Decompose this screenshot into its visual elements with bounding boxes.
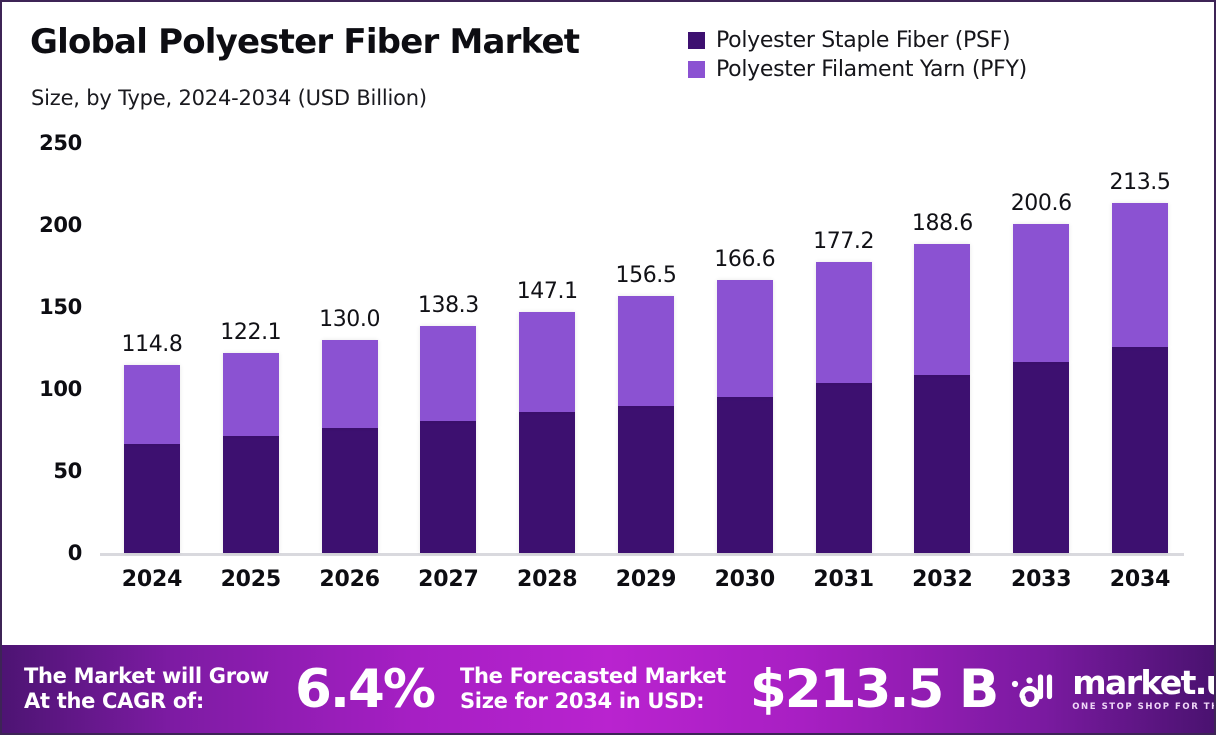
bar-group[interactable]: 122.1 <box>223 353 279 553</box>
chart-plot-area: 050100150200250 114.8122.1130.0138.3147.… <box>2 2 1216 622</box>
y-axis-tick-0: 0 <box>16 541 82 565</box>
bar-segment-pfy[interactable] <box>914 244 970 375</box>
y-axis-tick-150: 150 <box>16 295 82 319</box>
y-axis-tick-100: 100 <box>16 377 82 401</box>
cagr-caption-line1: The Market will Grow <box>24 664 269 689</box>
logo-tagline: ONE STOP SHOP FOR THE REPORTS <box>1072 702 1214 712</box>
bar-segment-pfy[interactable] <box>519 312 575 412</box>
market-us-logo: market.us ONE STOP SHOP FOR THE REPORTS <box>1011 666 1214 712</box>
bar-group[interactable]: 200.6 <box>1013 224 1069 553</box>
bar-group[interactable]: 188.6 <box>914 244 970 553</box>
bar-segment-pfy[interactable] <box>223 353 279 436</box>
bar-group[interactable]: 147.1 <box>519 312 575 553</box>
bar-segment-psf[interactable] <box>914 375 970 553</box>
y-axis-tick-50: 50 <box>16 459 82 483</box>
bar-segment-psf[interactable] <box>717 397 773 553</box>
cagr-caption-line2: At the CAGR of: <box>24 689 269 714</box>
x-axis-line <box>100 553 1184 556</box>
bar-segment-pfy[interactable] <box>618 296 674 405</box>
logo-wordmark: market.us <box>1072 666 1214 699</box>
bar-segment-pfy[interactable] <box>1013 224 1069 362</box>
forecast-caption: The Forecasted Market Size for 2034 in U… <box>460 664 726 714</box>
bar-segment-psf[interactable] <box>1112 347 1168 553</box>
market-us-logo-icon <box>1011 669 1063 709</box>
summary-banner: The Market will Grow At the CAGR of: 6.4… <box>2 645 1214 733</box>
x-axis-tick-2034: 2034 <box>1080 567 1200 592</box>
bar-segment-pfy[interactable] <box>420 326 476 420</box>
forecast-value: $213.5 B <box>750 663 997 716</box>
bar-segment-psf[interactable] <box>322 428 378 553</box>
bar-segment-psf[interactable] <box>1013 362 1069 553</box>
bar-group[interactable]: 166.6 <box>717 280 773 553</box>
forecast-caption-line2: Size for 2034 in USD: <box>460 689 726 714</box>
bar-group[interactable]: 213.5 <box>1112 203 1168 553</box>
bar-segment-psf[interactable] <box>223 436 279 553</box>
bar-segment-pfy[interactable] <box>816 262 872 382</box>
bar-group[interactable]: 130.0 <box>322 340 378 553</box>
bar-segment-psf[interactable] <box>618 406 674 553</box>
bar-total-label: 213.5 <box>1080 170 1200 195</box>
cagr-value: 6.4% <box>295 663 434 716</box>
bar-segment-psf[interactable] <box>124 444 180 553</box>
bar-segment-psf[interactable] <box>420 421 476 554</box>
bar-segment-pfy[interactable] <box>124 365 180 445</box>
bar-segment-pfy[interactable] <box>717 280 773 397</box>
bar-group[interactable]: 114.8 <box>124 365 180 553</box>
forecast-caption-line1: The Forecasted Market <box>460 664 726 689</box>
cagr-caption: The Market will Grow At the CAGR of: <box>24 664 269 714</box>
market-us-logo-text: market.us ONE STOP SHOP FOR THE REPORTS <box>1072 666 1214 712</box>
bar-group[interactable]: 177.2 <box>816 262 872 553</box>
bar-segment-pfy[interactable] <box>1112 203 1168 347</box>
bar-segment-psf[interactable] <box>519 412 575 553</box>
bar-segment-pfy[interactable] <box>322 340 378 428</box>
y-axis-tick-200: 200 <box>16 213 82 237</box>
bar-group[interactable]: 138.3 <box>420 326 476 553</box>
bar-segment-psf[interactable] <box>816 383 872 553</box>
y-axis-tick-250: 250 <box>16 131 82 155</box>
chart-card: Global Polyester Fiber Market Size, by T… <box>0 0 1216 735</box>
bar-group[interactable]: 156.5 <box>618 296 674 553</box>
